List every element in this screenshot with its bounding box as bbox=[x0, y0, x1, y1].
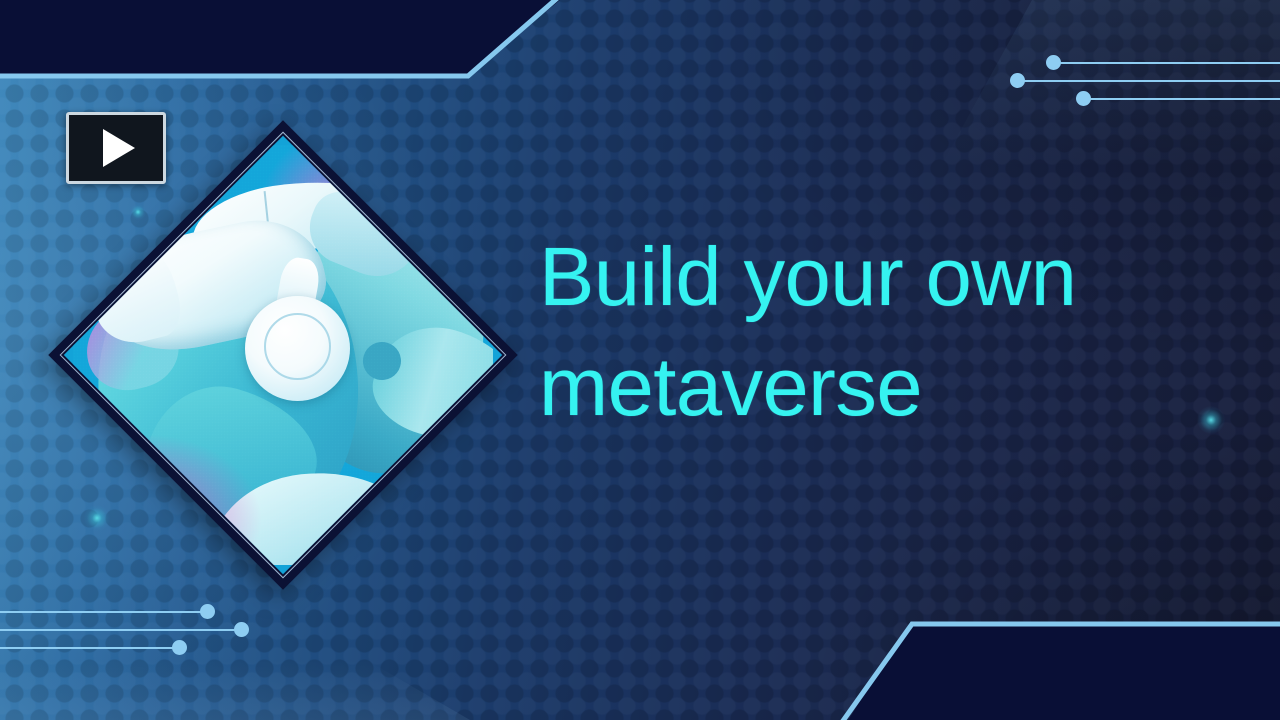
decor-lines-top-right bbox=[990, 52, 1280, 112]
play-button[interactable] bbox=[66, 112, 166, 184]
decor-lines-bottom-left bbox=[0, 603, 260, 663]
slide-title: Build your own metaverse bbox=[539, 222, 1229, 441]
play-icon bbox=[103, 129, 135, 167]
vr-headset-photo bbox=[64, 136, 502, 574]
diamond-photo-frame bbox=[48, 120, 518, 590]
presentation-slide: Build your own metaverse bbox=[0, 0, 1280, 720]
